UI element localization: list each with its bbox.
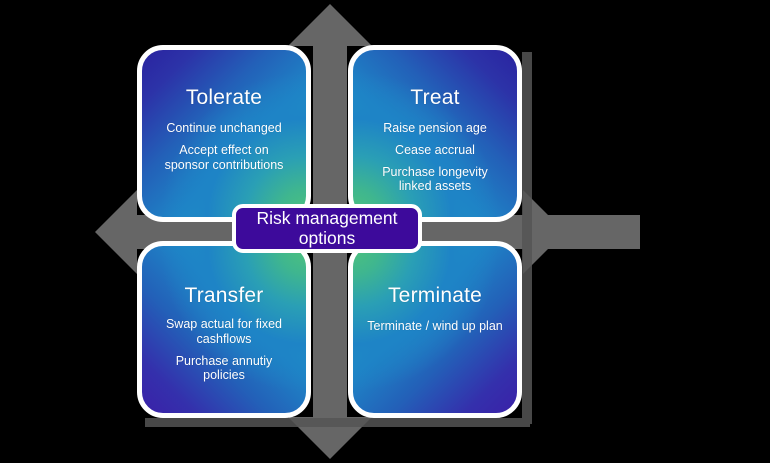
quadrant-tolerate-title: Tolerate (186, 86, 262, 109)
quadrant-tolerate[interactable]: Tolerate Continue unchanged Accept effec… (137, 45, 311, 222)
quadrant-transfer-items: Swap actual for fixed cashflows Purchase… (142, 317, 306, 390)
list-item: Terminate / wind up plan (353, 319, 517, 334)
quadrant-terminate-items: Terminate / wind up plan (353, 319, 517, 341)
list-item: Purchase longevity linked assets (353, 165, 517, 195)
diagram-canvas: Tolerate Continue unchanged Accept effec… (0, 0, 770, 463)
list-item: Cease accrual (353, 143, 517, 158)
quadrant-treat-items: Raise pension age Cease accrual Purchase… (353, 121, 517, 201)
quadrant-treat[interactable]: Treat Raise pension age Cease accrual Pu… (348, 45, 522, 222)
list-item: Raise pension age (353, 121, 517, 136)
center-badge-label: Risk management options (252, 209, 401, 248)
list-item: Swap actual for fixed cashflows (142, 317, 306, 347)
list-item: Continue unchanged (142, 121, 306, 136)
quadrant-tolerate-items: Continue unchanged Accept effect on spon… (142, 121, 306, 179)
list-item: Purchase annutiy policies (142, 354, 306, 384)
quadrant-terminate[interactable]: Terminate Terminate / wind up plan (348, 241, 522, 418)
arrow-up-icon (288, 4, 372, 46)
box-shadow-bottom (145, 418, 530, 427)
box-shadow-right (522, 52, 532, 424)
quadrant-terminate-title: Terminate (388, 284, 482, 307)
quadrant-transfer[interactable]: Transfer Swap actual for fixed cashflows… (137, 241, 311, 418)
list-item: Accept effect on sponsor contributions (142, 143, 306, 173)
center-badge[interactable]: Risk management options (232, 204, 422, 253)
quadrant-transfer-title: Transfer (184, 284, 263, 307)
quadrant-treat-title: Treat (410, 86, 459, 109)
